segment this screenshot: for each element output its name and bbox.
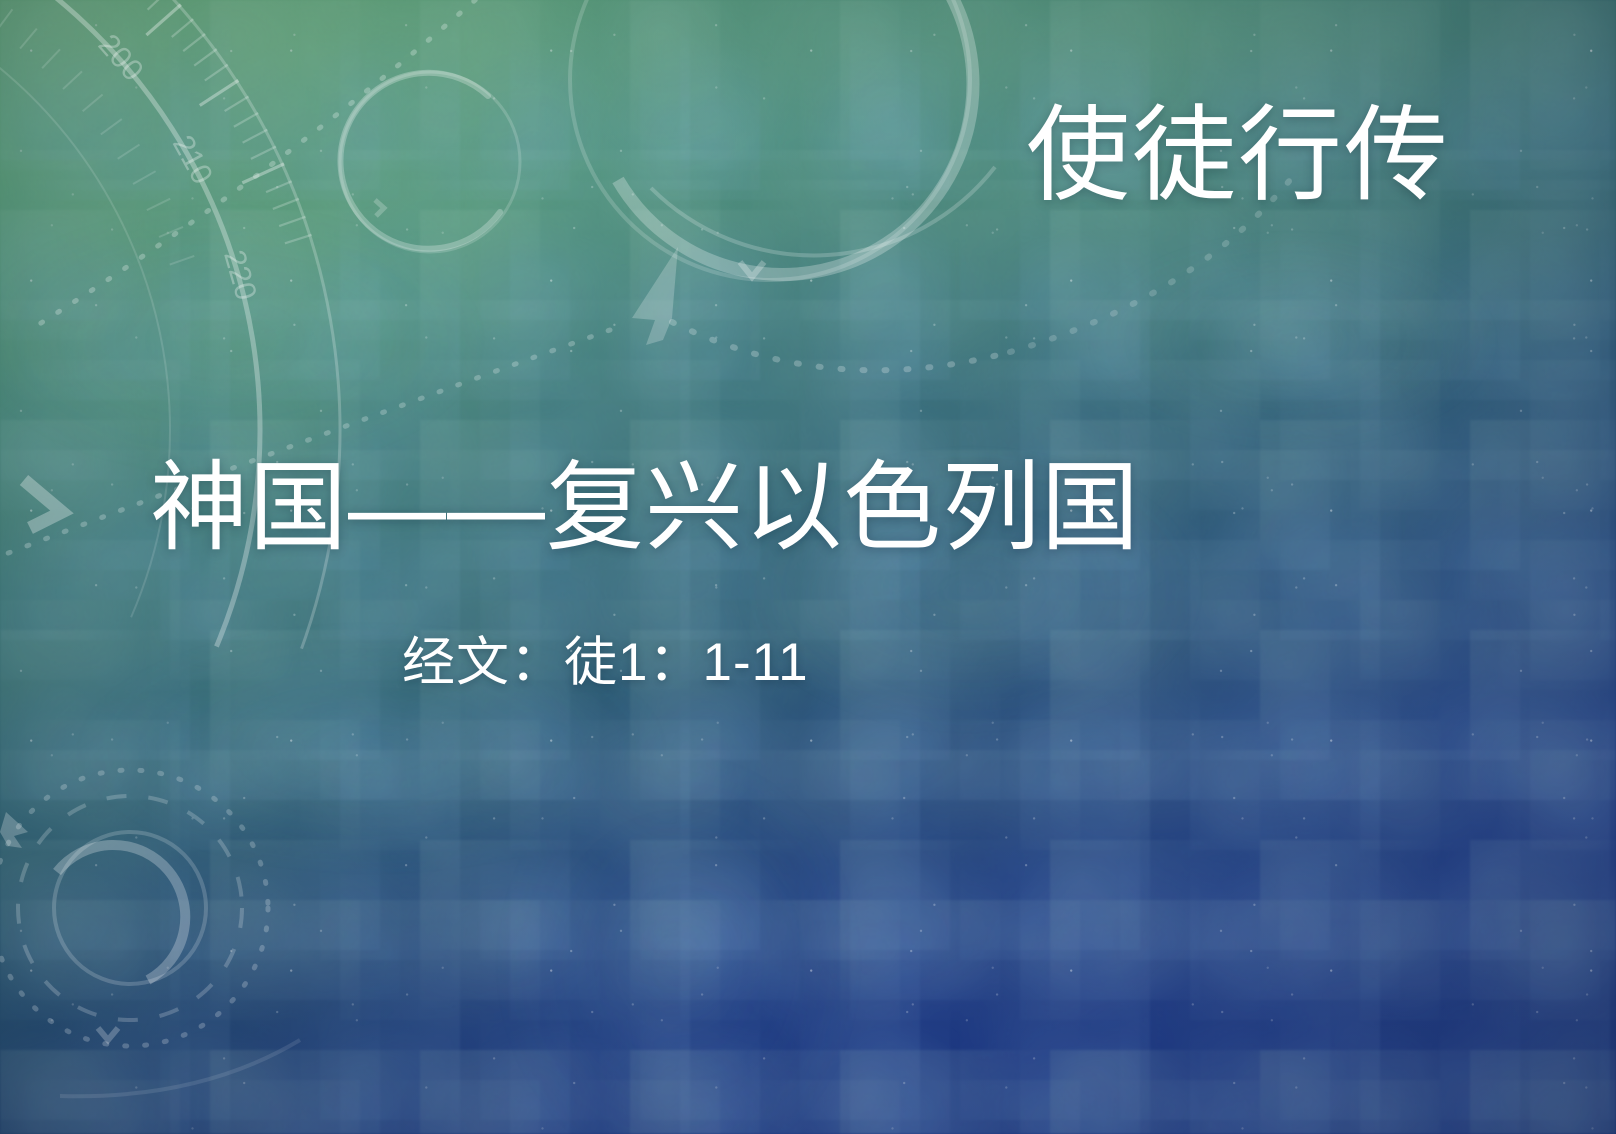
dial-tick bbox=[141, 5, 186, 35]
scripture-reference: 经文：徒1：1-11 bbox=[402, 636, 809, 689]
dial-outer-ring bbox=[0, 0, 441, 1134]
dial-tick bbox=[279, 217, 307, 226]
ring-dashed bbox=[18, 796, 242, 1020]
presentation-slide: 140150160170180190200210220 bbox=[0, 0, 1616, 1134]
ring-thick-arc bbox=[57, 845, 185, 980]
ring-arrow-icon bbox=[0, 812, 28, 848]
ring-dotted-outer bbox=[0, 770, 268, 1046]
dial-tick bbox=[223, 96, 251, 111]
faint-arc-bottom bbox=[60, 1040, 300, 1096]
dial-tick bbox=[284, 235, 312, 244]
chevron-marker-left bbox=[24, 480, 62, 528]
small-circle-cluster bbox=[340, 72, 520, 252]
dial-tick bbox=[272, 199, 300, 209]
compass-dial-left: 140150160170180190200210220 bbox=[0, 0, 528, 1134]
main-heading: 神国——复兴以色列国 bbox=[150, 458, 1140, 556]
dial-tick-marks bbox=[0, 0, 312, 429]
dial-tick bbox=[192, 49, 220, 66]
dial-tick bbox=[144, 0, 171, 10]
top-circle-thick-arc bbox=[618, 0, 973, 274]
dial-degree-label: 220 bbox=[217, 247, 263, 304]
dotted-arc-center bbox=[672, 322, 1010, 370]
dial-tick-inner bbox=[0, 9, 16, 30]
dial-tick bbox=[169, 19, 196, 37]
dial-degree-label: 200 bbox=[92, 28, 150, 87]
concentric-rings-bottom-left bbox=[0, 770, 268, 1046]
dial-tick bbox=[196, 80, 242, 105]
dial-tick-inner bbox=[146, 199, 172, 210]
top-circle-thin bbox=[570, 0, 970, 280]
ring-chevron-icon bbox=[98, 1028, 118, 1040]
dial-tick-inner bbox=[131, 171, 157, 184]
dial-tick-inner bbox=[98, 119, 124, 134]
dial-tick bbox=[265, 181, 293, 192]
small-circle-arc bbox=[340, 73, 500, 249]
dial-tick bbox=[249, 147, 277, 159]
dial-tick-inner bbox=[39, 49, 64, 68]
top-circle-outer-arc bbox=[651, 167, 995, 255]
small-chevron-icon bbox=[375, 200, 384, 216]
dial-tick bbox=[232, 113, 260, 127]
dial-tick-inner bbox=[80, 95, 105, 112]
dial-tick bbox=[180, 34, 208, 51]
chevron-marker-top bbox=[740, 262, 764, 277]
dial-degree-label: 210 bbox=[166, 130, 219, 190]
dial-tick-inner bbox=[169, 256, 195, 265]
small-circle-outer bbox=[340, 72, 520, 252]
large-circle-cluster-top bbox=[570, 0, 995, 280]
dotted-diagonal-upper bbox=[30, 0, 520, 330]
dial-tick-inner bbox=[116, 145, 142, 159]
dial-tick bbox=[241, 130, 269, 143]
dial-tick-inner bbox=[158, 227, 184, 237]
dial-degree-label: 190 bbox=[0, 0, 58, 2]
page-title: 使徒行传 bbox=[1026, 104, 1450, 208]
arrow-head-icon bbox=[632, 247, 678, 345]
dial-degree-labels: 140150160170180190200210220 bbox=[0, 0, 263, 476]
dial-tick bbox=[202, 65, 230, 81]
ring-thin-solid bbox=[54, 832, 206, 984]
dial-tick bbox=[240, 164, 286, 183]
dial-tick-inner bbox=[16, 29, 40, 49]
dial-tick-inner bbox=[60, 71, 85, 89]
